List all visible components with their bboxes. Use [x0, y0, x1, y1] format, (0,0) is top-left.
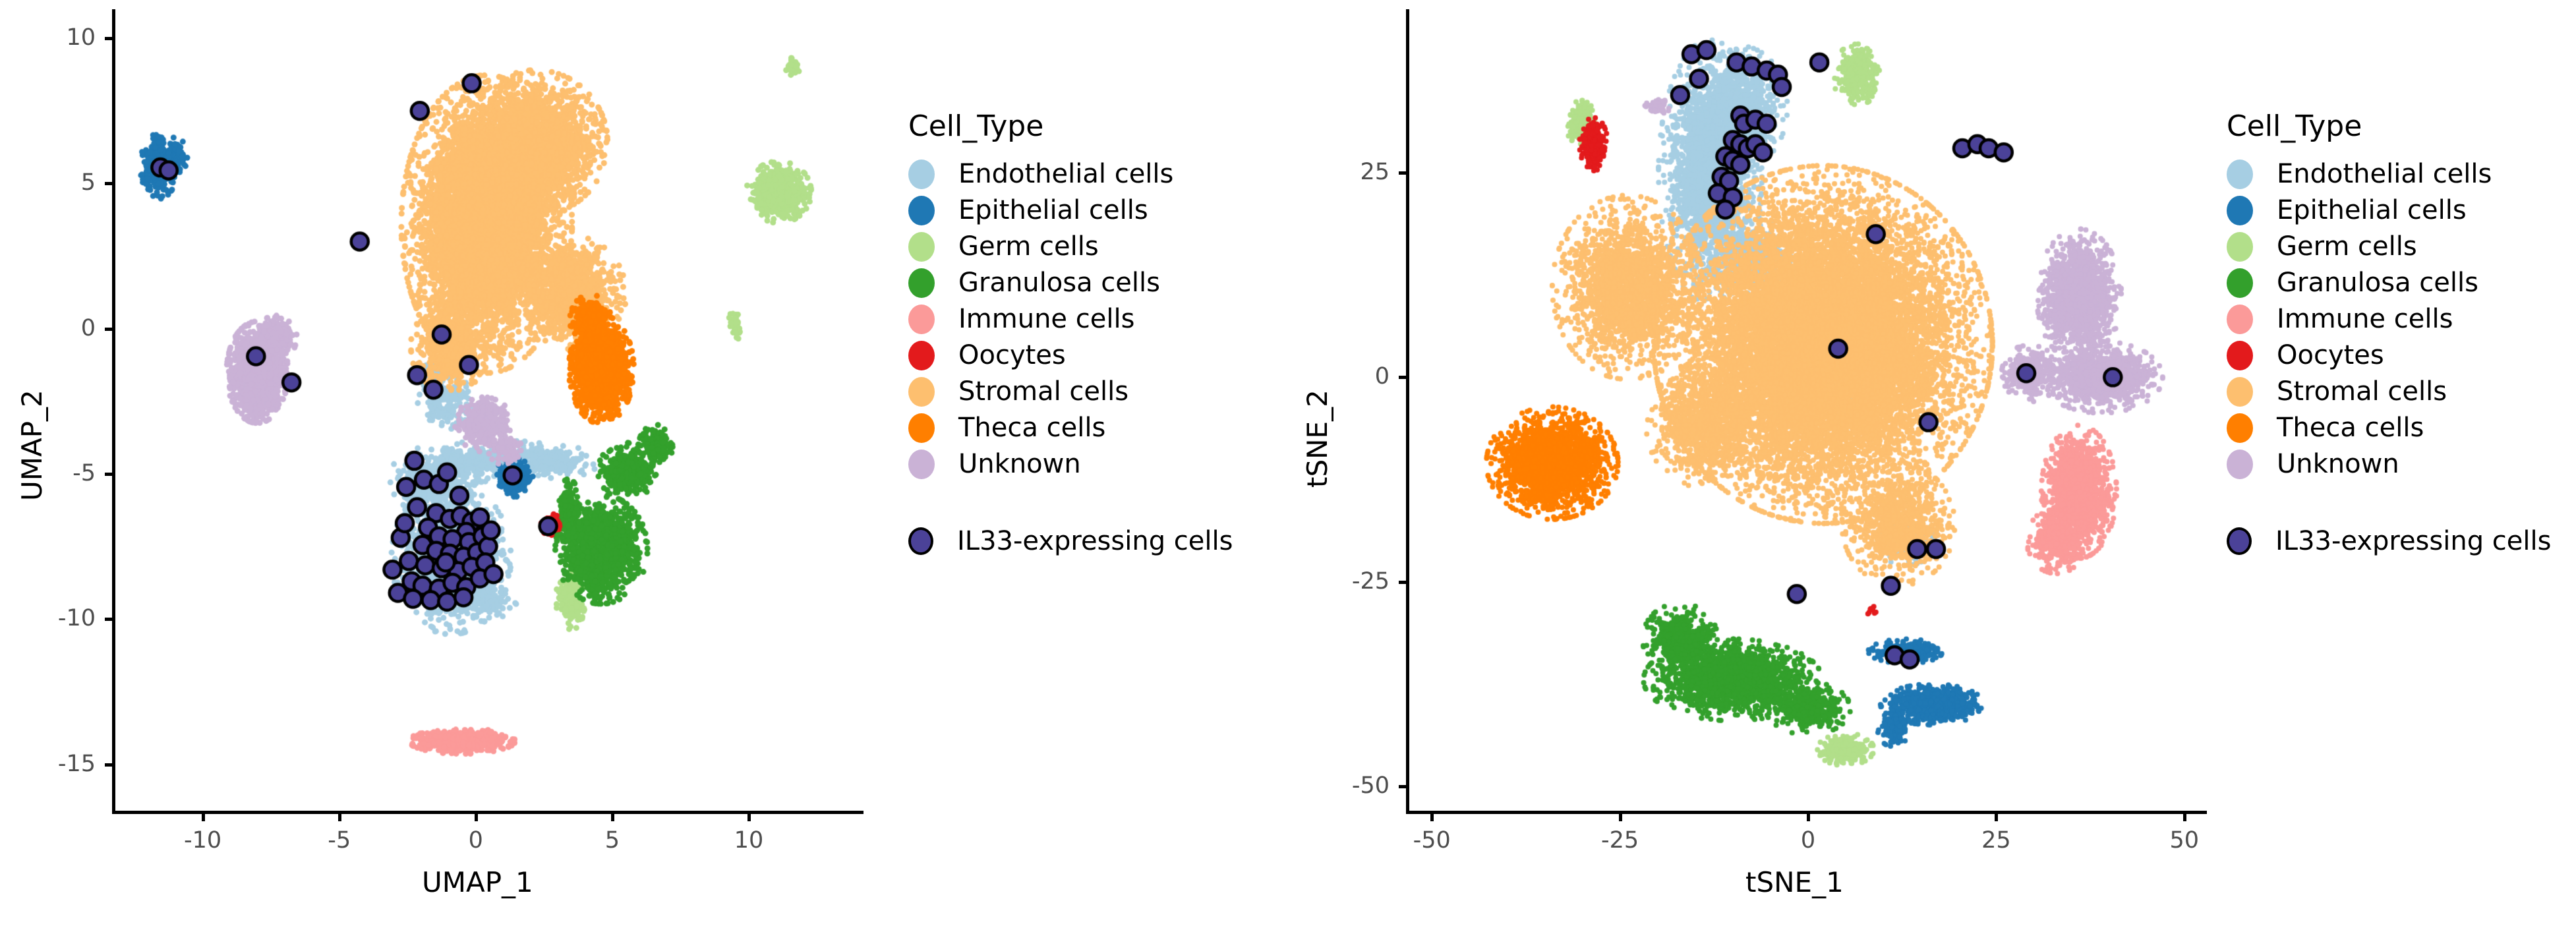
tsne-legend-label-0: Endothelial cells	[2277, 161, 2492, 187]
x-tick-label: -25	[1581, 829, 1660, 852]
umap-legend-row-3[interactable]: Granulosa cells	[908, 267, 1233, 299]
tsne-legend-row-0[interactable]: Endothelial cells	[2227, 158, 2551, 190]
y-tick-mark	[1399, 581, 1406, 584]
umap-legend-row-1[interactable]: Epithelial cells	[908, 194, 1233, 226]
legend-swatch-icon	[2227, 268, 2253, 298]
umap-legend-row-6[interactable]: Stromal cells	[908, 376, 1233, 407]
umap-legend-label-0: Endothelial cells	[958, 161, 1173, 187]
x-tick-label: 5	[573, 829, 652, 852]
x-tick-label: 0	[1769, 829, 1848, 852]
y-tick-mark	[1399, 376, 1406, 379]
umap-legend-row-8[interactable]: Unknown	[908, 448, 1233, 480]
x-tick-mark	[611, 814, 614, 821]
tsne-legend-row-5[interactable]: Oocytes	[2227, 339, 2551, 371]
legend-swatch-icon	[2227, 305, 2253, 334]
umap-legend-row-il33[interactable]: IL33-expressing cells	[908, 525, 1233, 557]
tsne-legend-row-2[interactable]: Germ cells	[2227, 231, 2551, 262]
panel-tsne: tSNE_2 -50-2502550-50-25025 tSNE_1 Cell_…	[1284, 0, 2576, 932]
panel-umap: UMAP_2 -10-50510-15-10-50510 UMAP_1 Cell…	[0, 0, 1292, 932]
il33-swatch-icon	[908, 527, 933, 555]
x-tick-mark	[1619, 814, 1622, 821]
umap-x-axis-title: UMAP_1	[422, 869, 533, 896]
y-tick-label: 5	[0, 171, 96, 194]
figure-root: UMAP_2 -10-50510-15-10-50510 UMAP_1 Cell…	[0, 0, 2576, 932]
y-tick-label: 0	[0, 317, 96, 340]
tsne-legend-label-2: Germ cells	[2277, 233, 2417, 260]
tsne-legend: Cell_Type Endothelial cellsEpithelial ce…	[2227, 112, 2551, 562]
x-tick-mark	[1995, 814, 1998, 821]
x-tick-mark	[202, 814, 205, 821]
x-tick-mark	[475, 814, 478, 821]
tsne-legend-label-8: Unknown	[2277, 451, 2399, 477]
umap-scatter	[115, 9, 864, 811]
y-tick-mark	[105, 473, 112, 476]
x-tick-label: 25	[1956, 829, 2035, 852]
legend-swatch-icon	[908, 160, 935, 189]
tsne-legend-title: Cell_Type	[2227, 112, 2551, 141]
tsne-legend-row-3[interactable]: Granulosa cells	[2227, 267, 2551, 299]
tsne-x-axis-title: tSNE_1	[1745, 869, 1844, 896]
y-tick-label: -25	[1291, 570, 1390, 593]
x-tick-label: 50	[2145, 829, 2224, 852]
umap-legend-label-6: Stromal cells	[958, 378, 1128, 405]
tsne-legend-row-il33[interactable]: IL33-expressing cells	[2227, 525, 2551, 557]
umap-legend-row-7[interactable]: Theca cells	[908, 412, 1233, 444]
tsne-plot-area: -50-2502550-50-25025	[1409, 9, 2207, 811]
y-tick-mark	[105, 182, 112, 185]
legend-swatch-icon	[908, 232, 935, 262]
tsne-legend-row-8[interactable]: Unknown	[2227, 448, 2551, 480]
x-tick-mark	[1430, 814, 1434, 821]
legend-swatch-icon	[2227, 232, 2253, 262]
tsne-legend-label-5: Oocytes	[2277, 342, 2384, 368]
umap-legend-row-2[interactable]: Germ cells	[908, 231, 1233, 262]
tsne-y-axis-title: tSNE_2	[1304, 390, 1332, 488]
x-tick-mark	[2183, 814, 2186, 821]
y-tick-mark	[105, 37, 112, 40]
il33-swatch-icon	[2227, 527, 2252, 555]
umap-legend-label-2: Germ cells	[958, 233, 1099, 260]
x-tick-label: -10	[163, 829, 243, 852]
umap-legend-title: Cell_Type	[908, 112, 1233, 141]
legend-swatch-icon	[2227, 450, 2253, 479]
legend-swatch-icon	[908, 268, 935, 298]
legend-swatch-icon	[2227, 377, 2253, 407]
umap-legend-label-7: Theca cells	[958, 415, 1105, 441]
umap-legend-row-0[interactable]: Endothelial cells	[908, 158, 1233, 190]
y-tick-mark	[105, 763, 112, 767]
legend-swatch-icon	[908, 341, 935, 370]
y-tick-mark	[1399, 785, 1406, 788]
tsne-legend-row-7[interactable]: Theca cells	[2227, 412, 2551, 444]
umap-legend-row-5[interactable]: Oocytes	[908, 339, 1233, 371]
tsne-legend-row-4[interactable]: Immune cells	[2227, 303, 2551, 335]
y-tick-label: -10	[0, 607, 96, 630]
y-tick-label: 25	[1291, 161, 1390, 184]
legend-swatch-icon	[908, 450, 935, 479]
x-tick-mark	[747, 814, 751, 821]
legend-swatch-icon	[908, 196, 935, 225]
umap-legend-row-4[interactable]: Immune cells	[908, 303, 1233, 335]
x-tick-label: 10	[709, 829, 788, 852]
umap-plot-area: -10-50510-15-10-50510	[115, 9, 864, 811]
y-tick-label: 10	[0, 26, 96, 49]
tsne-y-axis-line	[1406, 9, 1409, 811]
umap-legend-label-1: Epithelial cells	[958, 197, 1148, 223]
tsne-legend-label-6: Stromal cells	[2277, 378, 2447, 405]
y-tick-mark	[1399, 171, 1406, 175]
umap-legend-label-8: Unknown	[958, 451, 1081, 477]
y-tick-label: 0	[1291, 365, 1390, 388]
tsne-legend-row-1[interactable]: Epithelial cells	[2227, 194, 2551, 226]
x-tick-mark	[338, 814, 341, 821]
x-tick-mark	[1807, 814, 1810, 821]
umap-y-axis-line	[112, 9, 115, 811]
tsne-legend-row-6[interactable]: Stromal cells	[2227, 376, 2551, 407]
y-tick-label: -50	[1291, 774, 1390, 798]
tsne-legend-label-1: Epithelial cells	[2277, 197, 2467, 223]
umap-legend-label-3: Granulosa cells	[958, 270, 1160, 296]
legend-swatch-icon	[908, 413, 935, 443]
tsne-legend-label-4: Immune cells	[2277, 306, 2453, 332]
legend-swatch-icon	[908, 305, 935, 334]
y-tick-mark	[105, 618, 112, 621]
tsne-legend-label-7: Theca cells	[2277, 415, 2424, 441]
umap-legend-label-il33: IL33-expressing cells	[957, 528, 1233, 554]
legend-swatch-icon	[2227, 160, 2253, 189]
umap-legend-label-5: Oocytes	[958, 342, 1066, 368]
legend-swatch-icon	[2227, 413, 2253, 443]
legend-swatch-icon	[2227, 341, 2253, 370]
legend-swatch-icon	[2227, 196, 2253, 225]
x-tick-label: -50	[1392, 829, 1471, 852]
x-tick-label: -5	[300, 829, 379, 852]
umap-legend: Cell_Type Endothelial cellsEpithelial ce…	[908, 112, 1233, 562]
umap-legend-label-4: Immune cells	[958, 306, 1134, 332]
y-tick-label: -5	[0, 462, 96, 485]
y-tick-label: -15	[0, 753, 96, 776]
legend-swatch-icon	[908, 377, 935, 407]
x-tick-label: 0	[436, 829, 515, 852]
y-tick-mark	[105, 328, 112, 331]
tsne-scatter	[1409, 9, 2207, 811]
tsne-legend-label-3: Granulosa cells	[2277, 270, 2478, 296]
tsne-legend-label-il33: IL33-expressing cells	[2275, 528, 2551, 554]
